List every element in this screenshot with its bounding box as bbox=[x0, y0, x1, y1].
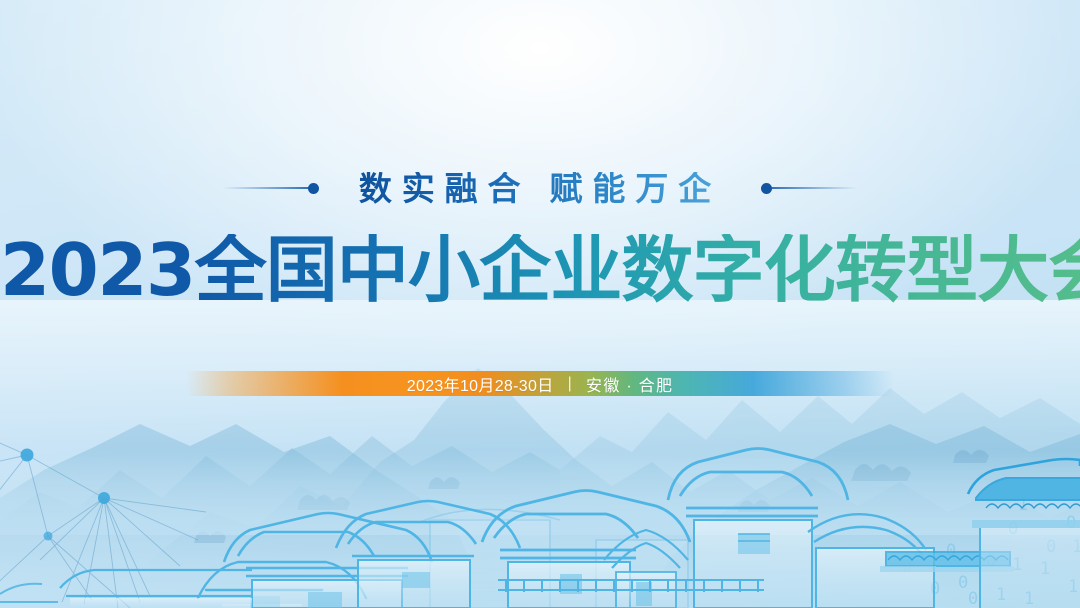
date-ribbon-text: 2023年10月28-30日 | 安徽 · 合肥 bbox=[186, 371, 894, 396]
huizhou-architecture-skyline bbox=[0, 0, 1080, 608]
event-date: 2023年10月28-30日 bbox=[407, 372, 554, 396]
ribbon-separator: | bbox=[568, 375, 572, 393]
event-location: 安徽 · 合肥 bbox=[586, 372, 673, 396]
conference-poster: 1 0 0 0 1 1 1 1 1 1 0 0 0 0 0 0 bbox=[0, 0, 1080, 608]
